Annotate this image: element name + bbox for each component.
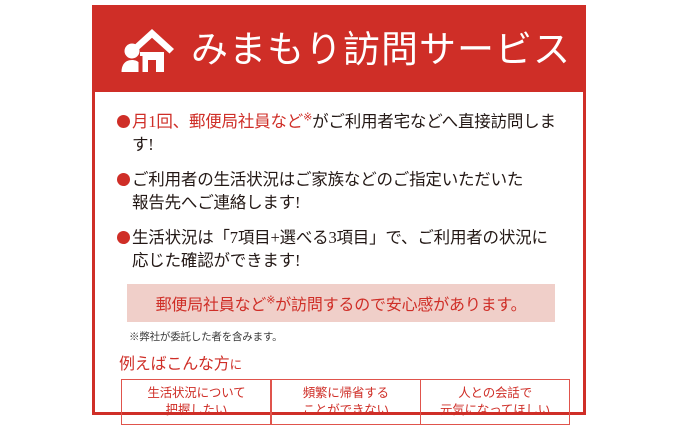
bullet-second-line: 応じた確認ができます!: [132, 249, 548, 272]
header-title: みまもり訪問サービス: [191, 32, 571, 69]
example-heading-large: 例えばこんな方: [119, 356, 230, 373]
house-with-person-icon: [119, 26, 181, 76]
bullet-item: 月1回、郵便局社員など※がご利用者宅などへ直接訪問します!: [117, 110, 563, 157]
bullet-rest-text: ご利用者の生活状況はご家族などのご指定いただいた: [132, 170, 523, 189]
reassurance-highlight-text: 郵便局社員など※が訪問するので安心感があります。: [156, 291, 527, 315]
example-box-line2: 元気になってほしい: [440, 402, 550, 419]
example-box-line1: 人との会話で: [458, 385, 532, 402]
bullet-dot-icon: [117, 231, 130, 244]
bullet-text: 月1回、郵便局社員など※がご利用者宅などへ直接訪問します!: [132, 110, 563, 157]
bullet-text: ご利用者の生活状況はご家族などのご指定いただいた 報告先へご連絡します!: [132, 168, 523, 215]
highlight-text-after: が訪問するので安心感があります。: [275, 297, 526, 314]
example-box-line1: 頻繁に帰省する: [303, 385, 389, 402]
body-region: 月1回、郵便局社員など※がご利用者宅などへ直接訪問します! ご利用者の生活状況は…: [95, 92, 583, 412]
example-section-heading: 例えばこんな方に: [119, 350, 563, 374]
reassurance-highlight-box: 郵便局社員など※が訪問するので安心感があります。: [127, 284, 555, 322]
example-boxes-row: 生活状況について 把握したい 頻繁に帰省する ことができない 人との会話で 元気…: [121, 379, 569, 425]
example-box: 頻繁に帰省する ことができない: [270, 379, 421, 425]
bullet-item: ご利用者の生活状況はご家族などのご指定いただいた 報告先へご連絡します!: [117, 168, 563, 215]
footnote-text: ※弊社が委託した者を含みます。: [129, 329, 563, 344]
asterisk-mark-icon: ※: [266, 294, 275, 306]
example-box-line2: ことができない: [303, 402, 389, 419]
page-root: みまもり訪問サービス 月1回、郵便局社員など※がご利用者宅などへ直接訪問します!…: [0, 0, 680, 421]
header-band: みまもり訪問サービス: [95, 8, 583, 92]
service-card: みまもり訪問サービス 月1回、郵便局社員など※がご利用者宅などへ直接訪問します!…: [92, 5, 586, 415]
example-box: 生活状況について 把握したい: [121, 379, 272, 425]
bullet-dot-icon: [117, 173, 130, 186]
bullet-highlight-text: 月1回、郵便局社員など: [132, 112, 303, 131]
bullet-text: 生活状況は「7項目+選べる3項目」で、ご利用者の状況に 応じた確認ができます!: [132, 226, 548, 273]
asterisk-mark-icon: ※: [303, 112, 312, 124]
example-box: 人との会話で 元気になってほしい: [420, 379, 571, 425]
example-box-line2: 把握したい: [166, 402, 228, 419]
example-box-line1: 生活状況について: [147, 385, 245, 402]
example-heading-small: に: [230, 358, 242, 372]
bullet-item: 生活状況は「7項目+選べる3項目」で、ご利用者の状況に 応じた確認ができます!: [117, 226, 563, 273]
bullet-dot-icon: [117, 115, 130, 128]
bullet-second-line: 報告先へご連絡します!: [132, 191, 523, 214]
highlight-text-before: 郵便局社員など: [156, 297, 267, 314]
bullet-rest-text: 生活状況は「7項目+選べる3項目」で、ご利用者の状況に: [132, 228, 548, 247]
